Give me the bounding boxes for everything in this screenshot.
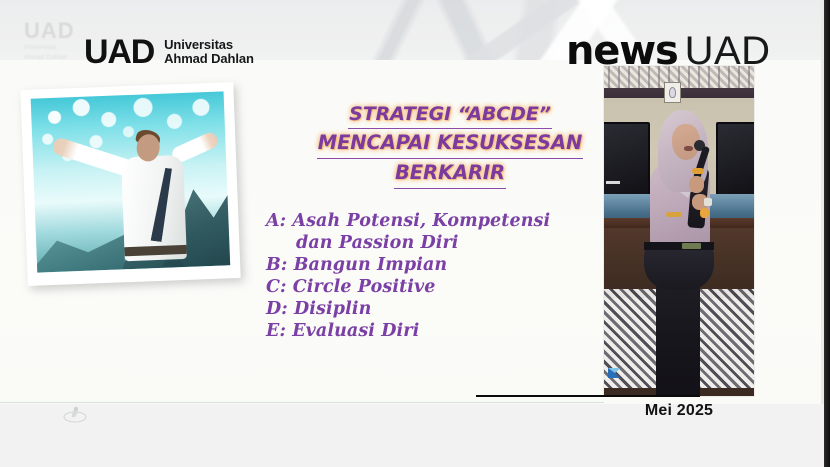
slide-title-line-2: MENCAPAI KESUKSESAN [317,129,583,159]
video-speaker-hand-upper [689,176,704,193]
video-overlay-flag-icon [607,366,623,382]
frame-right-dark-edge [824,0,830,467]
presentation-slide: UAD Universitas Ahmad Dahlan UAD Univers… [0,0,825,404]
slide-photo-card [20,82,240,286]
slide-photo-image [31,91,231,272]
list-item: dan Passion Diri [266,232,596,254]
video-monitor-right [716,122,754,196]
photo-mountain-left [31,229,126,272]
video-speaker-belt-buckle [682,243,701,249]
date-label: Mei 2025 [604,402,754,420]
video-player-frame: UAD Universitas Ahmad Dahlan UAD Univers… [0,0,830,467]
list-item: E: Evaluasi Diri [266,320,596,342]
video-monitor-left [604,122,650,196]
slide-title-line-1: STRATEGI “ABCDE” [348,100,552,129]
video-speaker-watch [704,198,712,206]
list-item: D: Disiplin [266,298,596,320]
video-wall-plaque [664,82,681,103]
video-speaker-belt [644,242,714,250]
slide-title: STRATEGI “ABCDE” MENCAPAI KESUKSESAN BER… [300,100,600,189]
video-microphone-base [700,208,709,218]
uad-logo-line1: Universitas [164,38,254,53]
uad-logo-mark: UAD [84,36,154,68]
uad-logo: UAD Universitas Ahmad Dahlan [84,36,254,68]
slide-bottom-edge [0,402,604,403]
uad-logo-line2: Ahmad Dahlan [164,52,254,67]
slide-title-line-3: BERKARIR [394,159,506,189]
list-item: A: Asah Potensi, Kompetensi [266,210,596,232]
video-microphone-ring [692,168,704,174]
list-item: B: Bangun Impian [266,254,596,276]
corner-watermark-icon [62,404,88,424]
video-speaker-bangle [666,212,682,217]
speaker-video-inset [604,66,754,396]
list-item: C: Circle Positive [266,276,596,298]
slide-bullet-list: A: Asah Potensi, Kompetensi dan Passion … [266,210,596,342]
date-divider-rule [476,395,700,397]
video-speaker-mouth [684,146,693,151]
uad-logo-wordmark: Universitas Ahmad Dahlan [164,38,254,67]
